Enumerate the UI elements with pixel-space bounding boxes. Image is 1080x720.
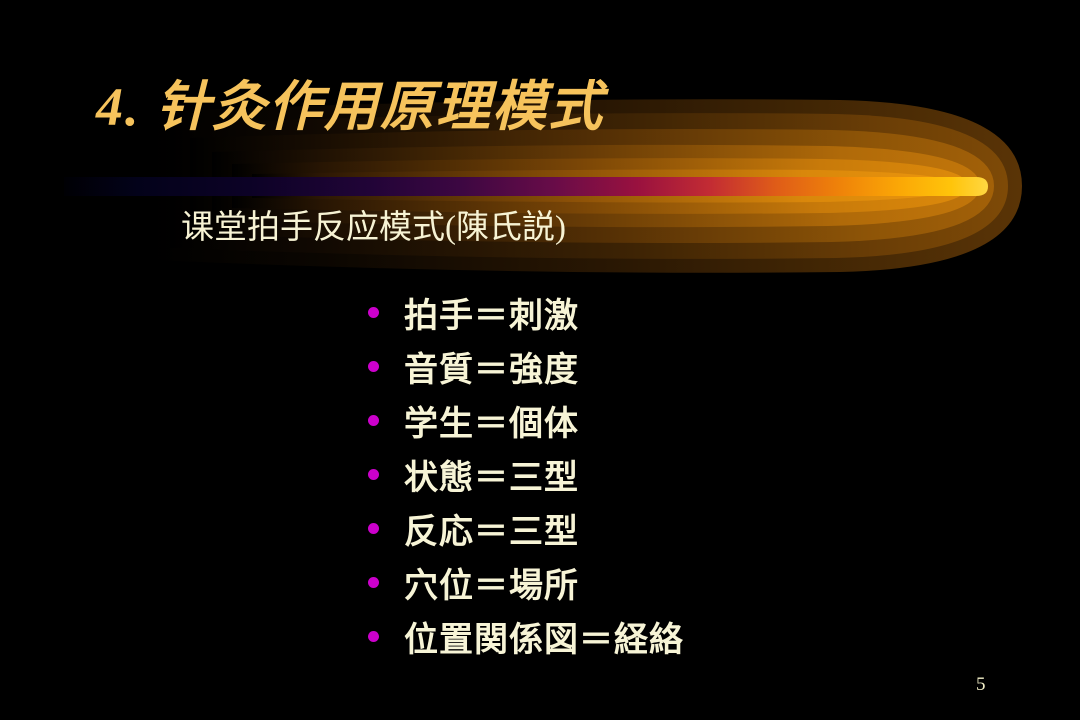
page-title: 4. 针灸作用原理模式 bbox=[96, 78, 604, 137]
list-item-label: 拍手＝刺激 bbox=[404, 288, 579, 337]
list-item: 穴位＝場所 bbox=[368, 555, 684, 609]
list-item-label: 反応＝三型 bbox=[404, 504, 579, 553]
list-item: 拍手＝刺激 bbox=[368, 285, 684, 339]
bullet-dot-icon bbox=[368, 469, 379, 480]
page-subtitle: 课堂拍手反应模式(陳氏説) bbox=[181, 200, 566, 248]
list-item-label: 穴位＝場所 bbox=[404, 558, 579, 607]
bullet-dot-icon bbox=[368, 523, 379, 534]
comet-swoosh-graphic bbox=[0, 0, 1080, 300]
page-number: 5 bbox=[976, 674, 986, 696]
list-item-label: 位置関係図＝経絡 bbox=[404, 612, 684, 661]
list-item: 音質＝強度 bbox=[368, 339, 684, 393]
list-item: 反応＝三型 bbox=[368, 501, 684, 555]
list-item-label: 状態＝三型 bbox=[404, 450, 579, 499]
bullet-dot-icon bbox=[368, 577, 379, 588]
bullet-list: 拍手＝刺激 音質＝強度 学生＝個体 状態＝三型 反応＝三型 穴位＝場所 位置関係… bbox=[368, 285, 684, 663]
slide-canvas: 4. 针灸作用原理模式 课堂拍手反应模式(陳氏説) 拍手＝刺激 音質＝強度 学生… bbox=[0, 0, 1080, 720]
bullet-dot-icon bbox=[368, 631, 379, 642]
list-item: 位置関係図＝経絡 bbox=[368, 609, 684, 663]
list-item: 学生＝個体 bbox=[368, 393, 684, 447]
list-item-label: 学生＝個体 bbox=[404, 396, 579, 445]
bullet-dot-icon bbox=[368, 361, 379, 372]
list-item: 状態＝三型 bbox=[368, 447, 684, 501]
list-item-label: 音質＝強度 bbox=[404, 342, 579, 391]
bullet-dot-icon bbox=[368, 307, 379, 318]
bullet-dot-icon bbox=[368, 415, 379, 426]
comet-core-beam bbox=[64, 177, 988, 196]
